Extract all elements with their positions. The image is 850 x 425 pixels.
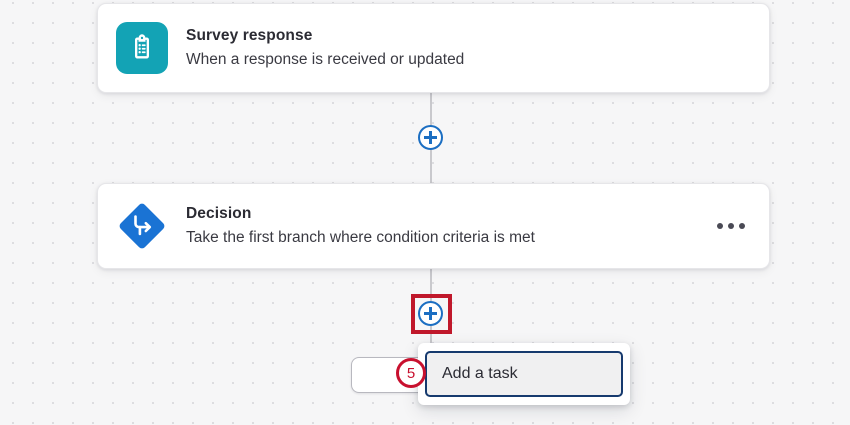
menu-item-add-a-task[interactable]: Add a task bbox=[425, 351, 623, 397]
clipboard-survey-icon bbox=[116, 22, 168, 74]
kebab-dot bbox=[728, 223, 734, 229]
node-icon-wrapper-survey-response bbox=[116, 22, 168, 74]
add-step-menu[interactable]: Add a task bbox=[418, 343, 630, 405]
node-card-decision[interactable]: Decision Take the first branch where con… bbox=[97, 183, 770, 269]
more-options-icon[interactable] bbox=[703, 213, 751, 239]
node-title-decision: Decision bbox=[186, 204, 703, 224]
annotation-step-number: 5 bbox=[407, 365, 415, 382]
node-text-survey-response: Survey response When a response is recei… bbox=[186, 26, 751, 71]
annotation-highlight-box bbox=[411, 294, 452, 334]
add-step-button-1[interactable] bbox=[418, 125, 443, 150]
node-subtitle-decision: Take the first branch where condition cr… bbox=[186, 227, 703, 249]
kebab-dot bbox=[739, 223, 745, 229]
node-icon-wrapper-decision bbox=[116, 200, 168, 252]
node-title-survey-response: Survey response bbox=[186, 26, 751, 46]
kebab-dot bbox=[717, 223, 723, 229]
menu-item-label: Add a task bbox=[442, 365, 518, 383]
workflow-canvas: Survey response When a response is recei… bbox=[0, 0, 850, 425]
node-subtitle-survey-response: When a response is received or updated bbox=[186, 49, 751, 71]
plus-icon-vertical-bar bbox=[429, 131, 431, 144]
node-card-survey-response[interactable]: Survey response When a response is recei… bbox=[97, 3, 770, 93]
branch-arrow-icon bbox=[116, 200, 168, 252]
node-text-decision: Decision Take the first branch where con… bbox=[186, 204, 703, 249]
annotation-step-badge: 5 bbox=[396, 358, 426, 388]
